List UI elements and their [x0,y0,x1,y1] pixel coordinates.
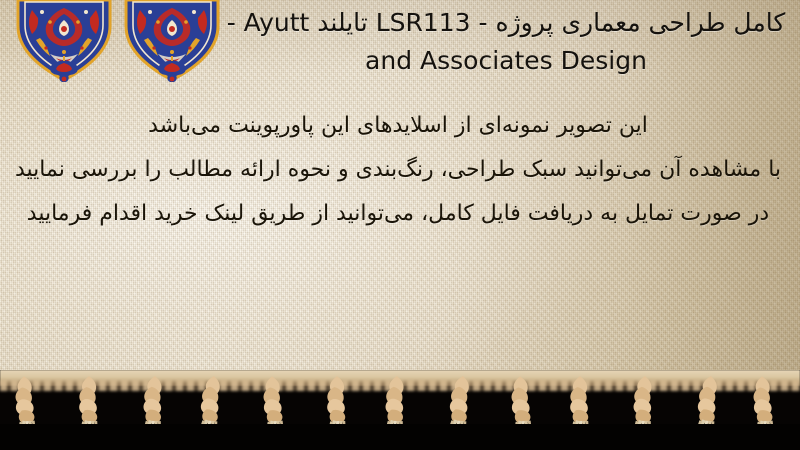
persian-medallion-ornament-left [16,0,112,90]
persian-medallion-ornament-right [122,0,222,90]
slide-title: کامل طراحی معماری پروژه - LSR113 تایلند … [220,4,792,80]
slide-canvas: کامل طراحی معماری پروژه - LSR113 تایلند … [0,0,800,450]
slide-body-line-3: در صورت تمایل به دریافت فایل کامل، می‌تو… [10,192,786,236]
slide-title-line-1: کامل طراحی معماری پروژه - LSR113 تایلند … [220,4,792,42]
slide-body: این تصویر نمونه‌ای از اسلایدهای این پاور… [10,104,786,236]
slide-body-line-2: با مشاهده آن می‌توانید سبک طراحی، رنگ‌بن… [10,148,786,192]
black-backdrop [0,424,800,450]
slide-title-line-2: and Associates Design [220,42,792,80]
slide-body-line-1: این تصویر نمونه‌ای از اسلایدهای این پاور… [10,104,786,148]
